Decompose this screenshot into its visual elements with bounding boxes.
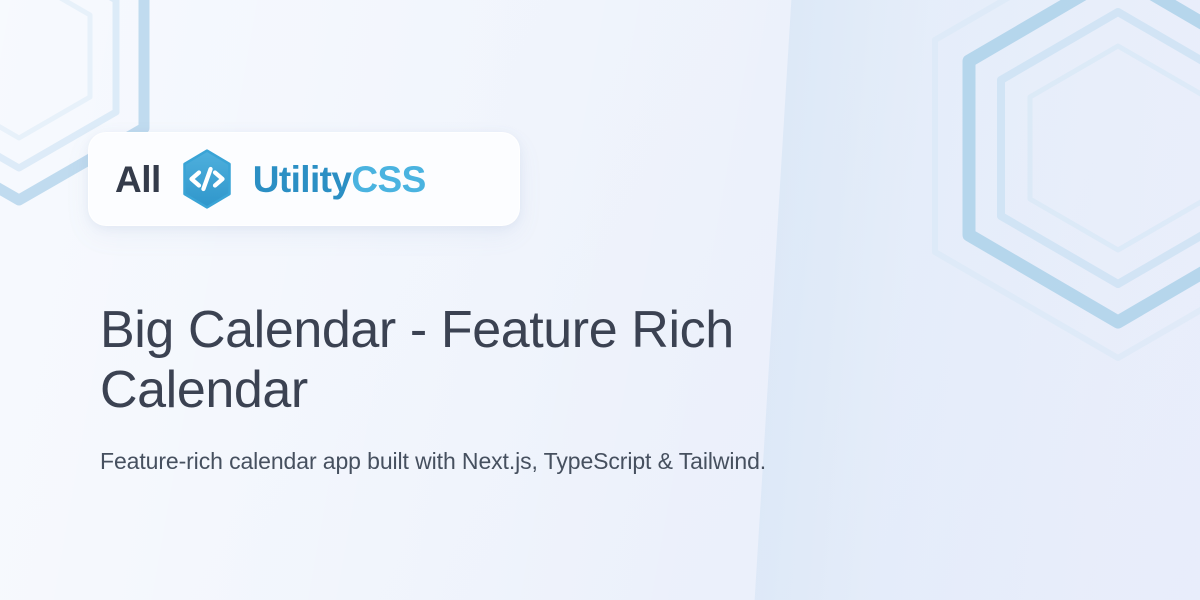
- page-description: Feature-rich calendar app built with Nex…: [100, 444, 772, 478]
- brand-prefix-label: All: [115, 161, 161, 198]
- brand-name-secondary: CSS: [351, 159, 425, 200]
- og-image-canvas: All UtilityCSS Big Calenda: [0, 0, 1200, 600]
- brand-name-label: UtilityCSS: [253, 161, 426, 198]
- page-title: Big Calendar - Feature Rich Calendar: [100, 300, 760, 420]
- brand-card: All UtilityCSS: [88, 132, 520, 226]
- diagonal-band-decoration: [750, 0, 1200, 600]
- hexagon-outline-icon: [918, 0, 1200, 368]
- brand-name-primary: Utility: [253, 159, 352, 200]
- code-hexagon-icon: [175, 147, 239, 211]
